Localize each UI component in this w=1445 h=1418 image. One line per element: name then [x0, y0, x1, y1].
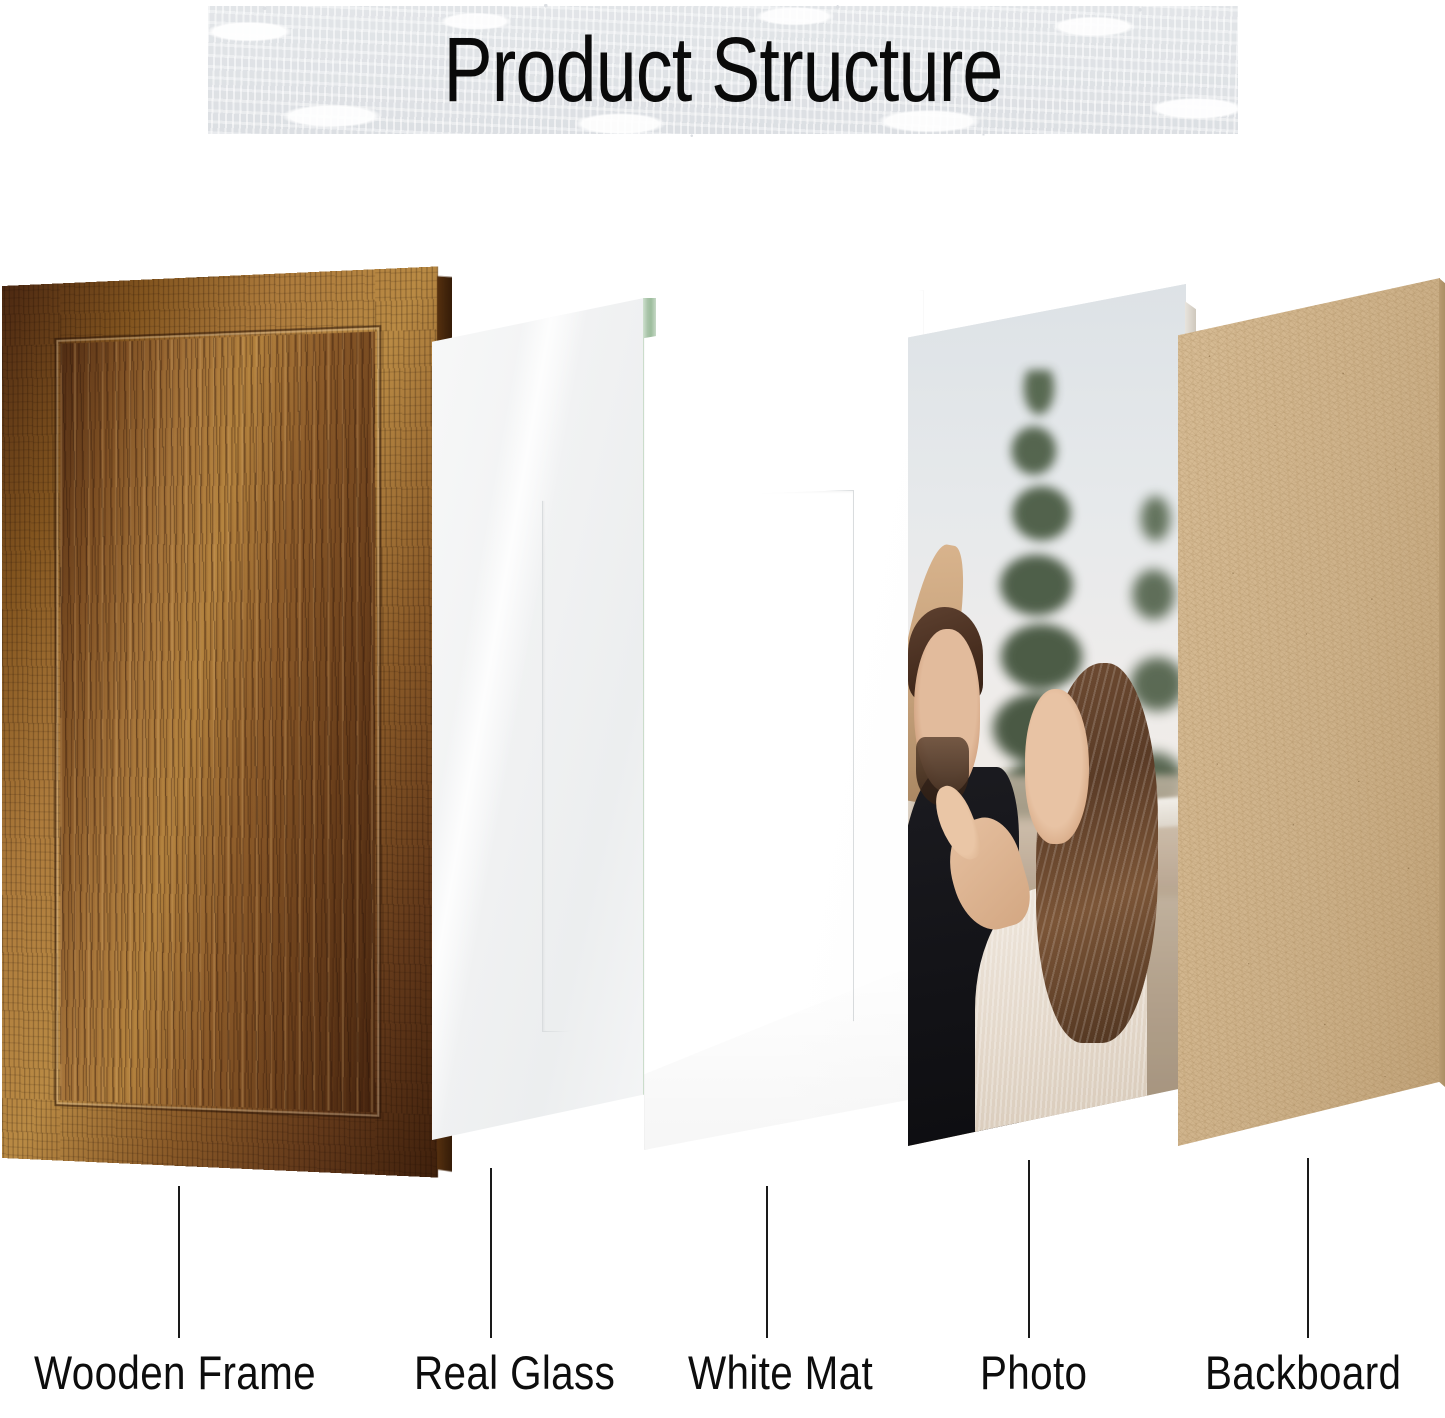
photo-print-icon — [908, 284, 1186, 1146]
layer-white-mat — [644, 290, 924, 1150]
page-title: Product Structure — [311, 6, 1135, 134]
label-white-mat: White Mat — [688, 1345, 873, 1400]
label-photo: Photo — [980, 1345, 1087, 1400]
leader-line-backboard — [1307, 1158, 1309, 1338]
layer-photo — [908, 284, 1186, 1146]
leader-line-wooden-frame — [178, 1186, 180, 1338]
photo-woman-face — [1025, 689, 1089, 844]
label-wooden-frame: Wooden Frame — [34, 1345, 316, 1400]
leader-line-real-glass — [490, 1168, 492, 1338]
exploded-view-diagram — [0, 270, 1445, 1190]
mat-window-aperture — [542, 490, 854, 1032]
layer-backboard — [1178, 278, 1440, 1146]
leader-line-white-mat — [766, 1186, 768, 1338]
layer-wooden-frame — [2, 266, 438, 1177]
backboard-side-face — [1439, 278, 1445, 1146]
backboard-icon — [1178, 278, 1440, 1146]
label-real-glass: Real Glass — [414, 1345, 615, 1400]
wood-frame-icon — [2, 266, 438, 1177]
title-banner: Product Structure — [208, 6, 1238, 134]
leader-line-photo — [1028, 1160, 1030, 1338]
label-backboard: Backboard — [1205, 1345, 1401, 1400]
